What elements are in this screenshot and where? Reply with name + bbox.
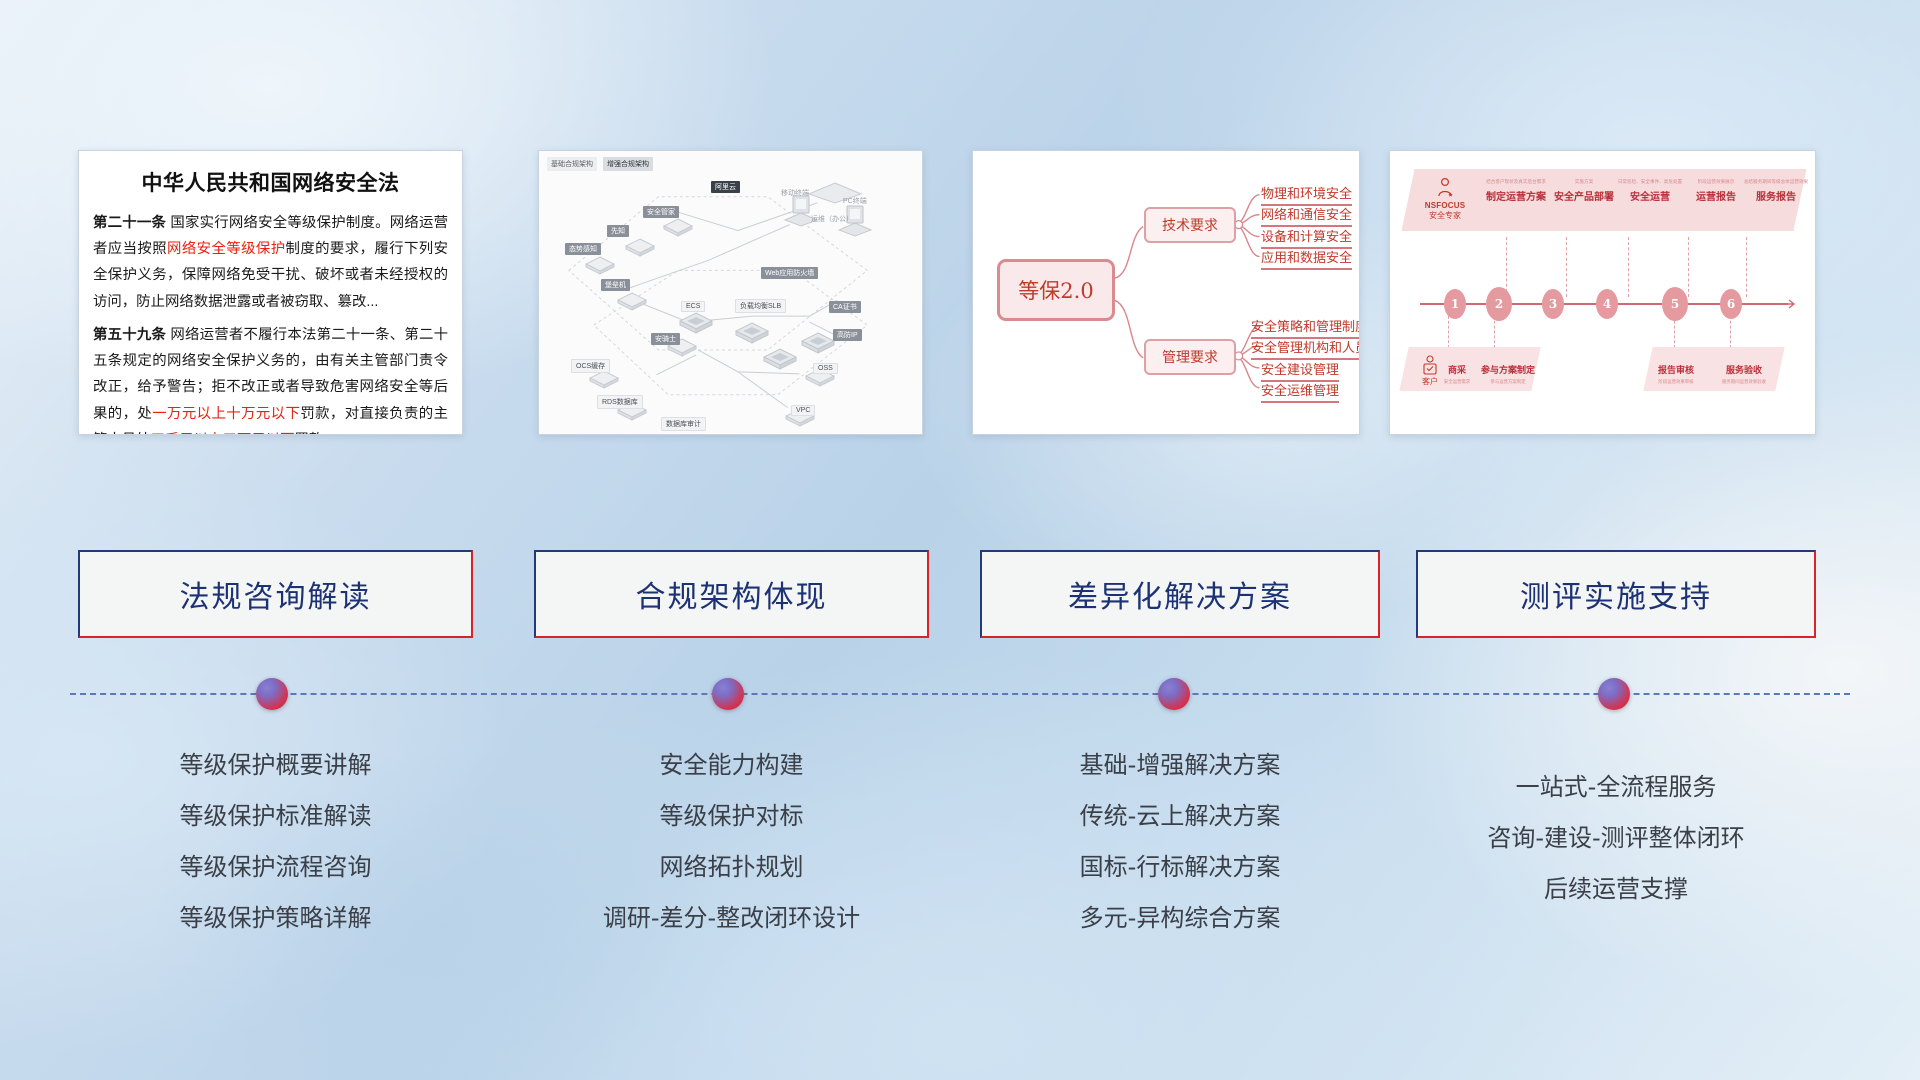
section-header-row: 法规咨询解读 合规架构体现 差异化解决方案 测评实施支持 xyxy=(0,550,1920,640)
arch-label-ca-certificate: CA证书 xyxy=(829,301,861,313)
nsfocus-top-step-title: 制定运营方案 xyxy=(1478,188,1554,203)
mindmap-card: 等保2.0 技术要求 管理要求 物理和环境安全 网络和通信安全 设备和计算安全 … xyxy=(972,150,1360,435)
nsfocus-milestone: 1 xyxy=(1444,289,1466,319)
nsfocus-top-step-title: 安全产品部署 xyxy=(1546,188,1622,203)
timeline-line xyxy=(70,693,1850,695)
detail-item: 国标-行标解决方案 xyxy=(980,842,1380,893)
arch-label-vpc: VPC xyxy=(791,405,815,416)
detail-item: 后续运营支撑 xyxy=(1416,864,1816,915)
detail-item: 等级保护概要讲解 xyxy=(78,740,473,791)
nsfocus-bottom-step-title: 报告审核 xyxy=(1644,363,1708,376)
timeline-dot-4[interactable] xyxy=(1598,678,1630,710)
detail-column-1: 等级保护概要讲解 等级保护标准解读 等级保护流程咨询 等级保护策略详解 xyxy=(78,740,473,944)
section-header-box-3[interactable]: 差异化解决方案 xyxy=(980,550,1380,638)
nsfocus-tick xyxy=(1688,237,1689,297)
section-header-box-1[interactable]: 法规咨询解读 xyxy=(78,550,473,638)
architecture-connectors xyxy=(539,151,922,435)
law-article-2-seg-4: 罚款。 xyxy=(295,432,338,435)
nsfocus-tick xyxy=(1566,237,1567,297)
mindmap-leaf: 设备和计算安全 xyxy=(1261,226,1352,249)
mindmap-branch-management: 管理要求 xyxy=(1144,339,1236,375)
detail-column-3: 基础-增强解决方案 传统-云上解决方案 国标-行标解决方案 多元-异构综合方案 xyxy=(980,740,1380,944)
mindmap-leaf: 安全管理机构和人员 xyxy=(1251,337,1360,360)
section-header-label-3: 差异化解决方案 xyxy=(1068,572,1292,616)
nsfocus-tick xyxy=(1746,237,1747,297)
nsfocus-bottom-step: 报告审核 阶段运营效果审核 xyxy=(1644,363,1708,385)
nsfocus-timeline: NSFOCUS 安全专家 结合客户现状及真实后台需求 制定运营方案 实施方案 安… xyxy=(1390,151,1815,434)
mindmap-leaf: 物理和环境安全 xyxy=(1261,183,1352,206)
timeline-dot-1[interactable] xyxy=(256,678,288,710)
nsfocus-bottom-step-title: 服务验收 xyxy=(1708,363,1780,376)
mindmap-leaf: 安全运维管理 xyxy=(1261,380,1339,403)
detail-column-2: 安全能力构建 等级保护对标 网络拓扑规划 调研-差分-整改闭环设计 xyxy=(534,740,929,944)
section-header-box-2[interactable]: 合规架构体现 xyxy=(534,550,929,638)
nsfocus-brand-line1: NSFOCUS xyxy=(1416,201,1474,210)
nsfocus-tick xyxy=(1506,237,1507,297)
architecture-diagram: 基础合规架构 增强合规架构 xyxy=(539,151,922,434)
nsfocus-top-step-sub: 结合客户现状及真实后台需求 xyxy=(1478,179,1554,185)
detail-item: 等级保护流程咨询 xyxy=(78,842,473,893)
nsfocus-top-step: 总结服务期间等级总体运营效果 服务报告 xyxy=(1738,179,1814,203)
detail-item: 等级保护标准解读 xyxy=(78,791,473,842)
nsfocus-top-step: 实施方案 安全产品部署 xyxy=(1546,179,1622,203)
arch-label-bastion-host: 堡垒机 xyxy=(601,279,630,291)
mindmap-branch-technical: 技术要求 xyxy=(1144,207,1236,243)
mindmap-leaf: 安全策略和管理制度 xyxy=(1251,316,1360,339)
arrow-right-icon xyxy=(1782,295,1798,313)
nsfocus-tick xyxy=(1628,237,1629,297)
nsfocus-brand-line2: 安全专家 xyxy=(1416,210,1474,221)
arch-label-ecs: ECS xyxy=(681,301,705,312)
arch-label-security-steward: 安全管家 xyxy=(643,206,679,218)
nsfocus-top-step-title: 安全运营 xyxy=(1612,188,1688,203)
detail-item: 多元-异构综合方案 xyxy=(980,893,1380,944)
nsfocus-top-step-sub: 总结服务期间等级总体运营效果 xyxy=(1738,179,1814,185)
law-article-1: 第二十一条 国家实行网络安全等级保护制度。网络运营者应当按照网络安全等级保护制度… xyxy=(93,210,448,315)
detail-item: 一站式-全流程服务 xyxy=(1416,762,1816,813)
arch-label-slb: 负载均衡SLB xyxy=(735,299,786,313)
nsfocus-milestone: 2 xyxy=(1486,287,1512,321)
nsfocus-bottom-step-sub: 参与运营方案制定 xyxy=(1470,379,1546,385)
law-article-2-seg-1: 一万元以上十万元以下 xyxy=(152,406,300,422)
arch-label-pc-terminal: PC终端 xyxy=(839,195,871,207)
section-header-label-4: 测评实施支持 xyxy=(1520,572,1712,616)
nsfocus-top-step: 结合客户现状及真实后台需求 制定运营方案 xyxy=(1478,179,1554,203)
timeline-dot-2[interactable] xyxy=(712,678,744,710)
nsfocus-bottom-step: 参与方案制定 参与运营方案制定 xyxy=(1470,363,1546,385)
section-header-box-4[interactable]: 测评实施支持 xyxy=(1416,550,1816,638)
mindmap: 等保2.0 技术要求 管理要求 物理和环境安全 网络和通信安全 设备和计算安全 … xyxy=(973,151,1359,434)
nsfocus-top-step-title: 服务报告 xyxy=(1738,188,1814,203)
section-header-label-1: 法规咨询解读 xyxy=(180,572,372,616)
mindmap-leaf: 网络和通信安全 xyxy=(1261,204,1352,227)
detail-item: 基础-增强解决方案 xyxy=(980,740,1380,791)
law-title: 中华人民共和国网络安全法 xyxy=(93,167,448,197)
arch-label-ops-office: 运维（办公） xyxy=(807,213,857,225)
nsfocus-top-step-sub: 日常巡检、安全事件、高危处置 xyxy=(1612,179,1688,185)
nsfocus-top-step-sub: 实施方案 xyxy=(1546,179,1622,185)
arch-label-anti-ddos-ip: 高防IP xyxy=(833,329,862,341)
mindmap-root-node: 等保2.0 xyxy=(997,259,1115,321)
timeline xyxy=(70,693,1850,696)
law-article-1-label: 第二十一条 xyxy=(93,215,166,231)
nsfocus-brand: NSFOCUS 安全专家 xyxy=(1416,177,1474,221)
arch-label-db-audit: 数据库审计 xyxy=(661,417,706,431)
nsfocus-milestone: 6 xyxy=(1720,289,1742,319)
law-article-2-seg-3: 五千元以上五万元以下 xyxy=(151,432,295,435)
detail-item: 等级保护策略详解 xyxy=(78,893,473,944)
detail-column-4: 一站式-全流程服务 咨询-建设-测评整体闭环 后续运营支撑 xyxy=(1416,762,1816,915)
nsfocus-bottom-step-title: 参与方案制定 xyxy=(1470,363,1546,376)
nsfocus-bottom-step-sub: 服务期间运营效果验收 xyxy=(1708,379,1780,385)
arch-label-anqishi: 安骑士 xyxy=(651,333,680,345)
arch-label-xianzhi: 先知 xyxy=(607,225,629,237)
detail-item: 咨询-建设-测评整体闭环 xyxy=(1416,813,1816,864)
nsfocus-milestone: 4 xyxy=(1596,289,1618,319)
nsfocus-timeline-card: NSFOCUS 安全专家 结合客户现状及真实后台需求 制定运营方案 实施方案 安… xyxy=(1389,150,1816,435)
mindmap-leaf: 应用和数据安全 xyxy=(1261,247,1352,270)
arch-label-oss: OSS xyxy=(813,363,838,374)
arch-label-waf: Web应用防火墙 xyxy=(761,267,818,279)
nsfocus-bottom-step-sub: 阶段运营效果审核 xyxy=(1644,379,1708,385)
nsfocus-milestone: 3 xyxy=(1542,289,1564,319)
detail-item: 安全能力构建 xyxy=(534,740,929,791)
detail-item: 网络拓扑规划 xyxy=(534,842,929,893)
nsfocus-milestone: 5 xyxy=(1662,287,1688,321)
law-article-1-seg-1: 网络安全等级保护 xyxy=(167,241,285,257)
law-content: 中华人民共和国网络安全法 第二十一条 国家实行网络安全等级保护制度。网络运营者应… xyxy=(79,151,462,435)
detail-item: 传统-云上解决方案 xyxy=(980,791,1380,842)
illustration-card-row: 中华人民共和国网络安全法 第二十一条 国家实行网络安全等级保护制度。网络运营者应… xyxy=(0,150,1920,440)
section-header-label-2: 合规架构体现 xyxy=(636,572,828,616)
nsfocus-bottom-step: 服务验收 服务期间运营效果验收 xyxy=(1708,363,1780,385)
arch-label-mobile-terminal: 移动终端 xyxy=(777,187,813,199)
timeline-dot-3[interactable] xyxy=(1158,678,1190,710)
law-card: 中华人民共和国网络安全法 第二十一条 国家实行网络安全等级保护制度。网络运营者应… xyxy=(78,150,463,435)
nsfocus-top-step: 日常巡检、安全事件、高危处置 安全运营 xyxy=(1612,179,1688,203)
detail-item: 等级保护对标 xyxy=(534,791,929,842)
section-detail-row: 等级保护概要讲解 等级保护标准解读 等级保护流程咨询 等级保护策略详解 安全能力… xyxy=(0,740,1920,940)
expert-person-icon xyxy=(1434,177,1456,199)
architecture-card: 基础合规架构 增强合规架构 xyxy=(538,150,923,435)
law-article-2: 第五十九条 网络运营者不履行本法第二十一条、第二十五条规定的网络安全保护义务的，… xyxy=(93,322,448,435)
arch-label-situational-awareness: 态势感知 xyxy=(565,243,601,255)
arch-label-aliyun: 阿里云 xyxy=(711,181,740,193)
arch-label-rds-database: RDS数据库 xyxy=(597,395,643,409)
detail-item: 调研-差分-整改闭环设计 xyxy=(534,893,929,944)
mindmap-leaf: 安全建设管理 xyxy=(1261,359,1339,382)
law-article-2-label: 第五十九条 xyxy=(93,327,166,343)
arch-label-ocs-cache: OCS缓存 xyxy=(571,359,610,373)
